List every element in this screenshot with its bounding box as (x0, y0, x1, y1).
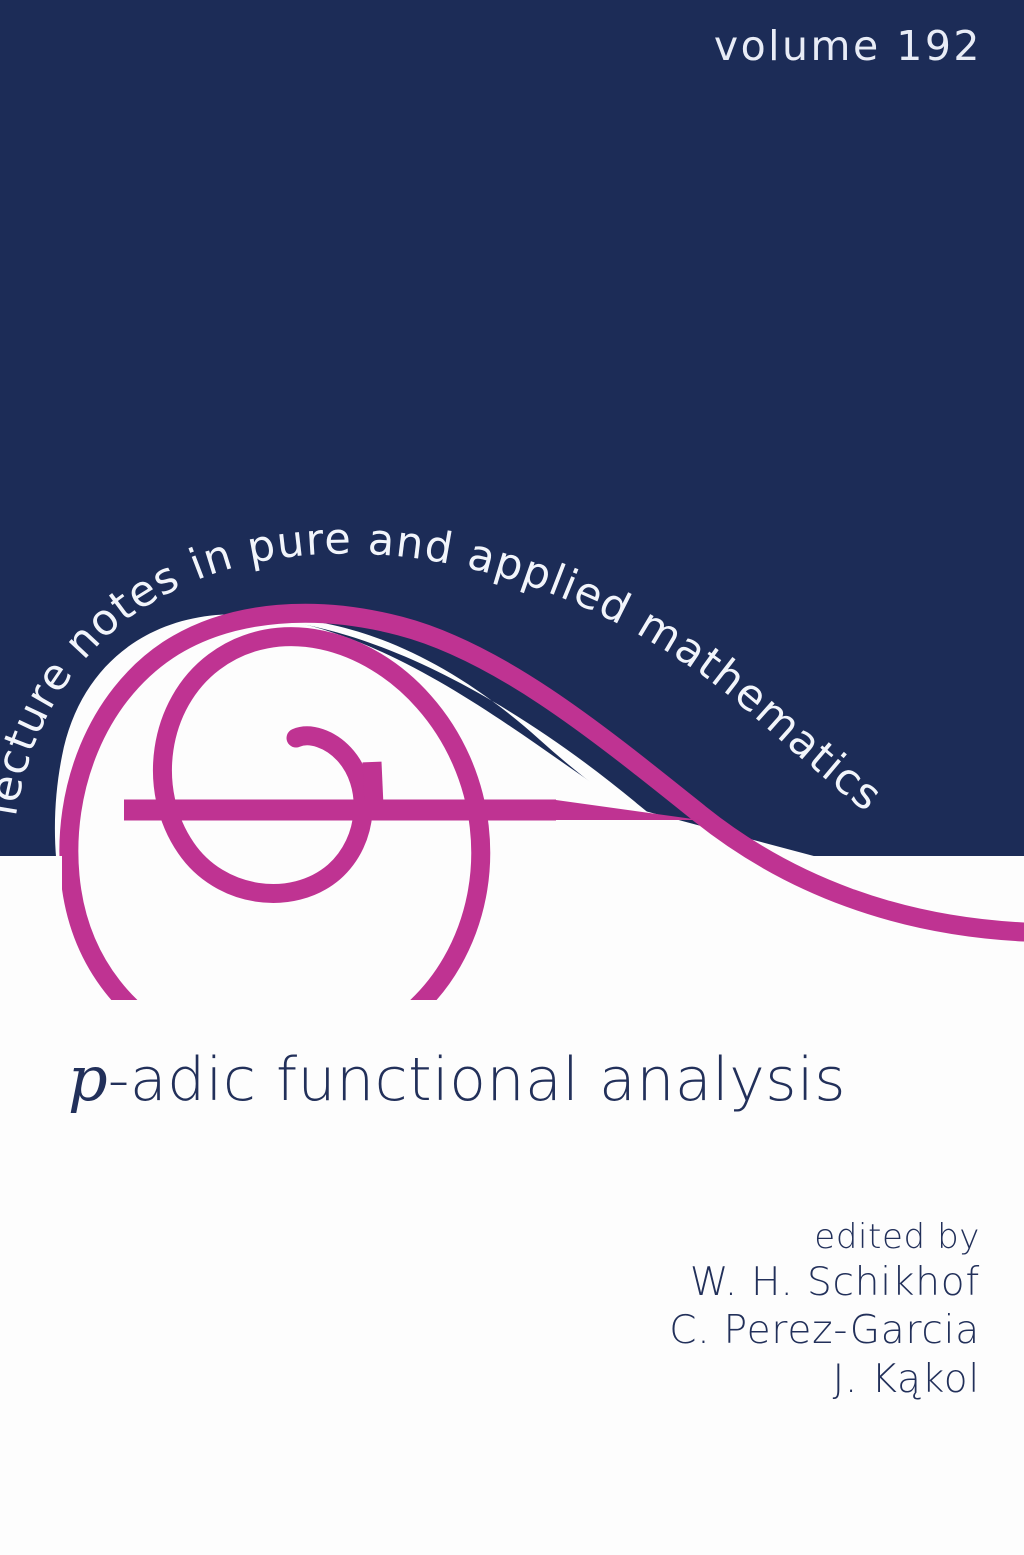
book-cover: volume 192 (0, 0, 1024, 1555)
edited-by-label: edited by (669, 1216, 980, 1259)
logo-spiral-tail (372, 762, 374, 806)
panel-seam-left (0, 856, 62, 1000)
editor-name-1: W. H. Schikhof (669, 1259, 980, 1307)
editor-name-3: J. Kąkol (669, 1356, 980, 1404)
title-remainder: -adic functional analysis (108, 1045, 846, 1115)
series-logo-graphic: lecture notes in pure and applied mathem… (0, 0, 1024, 1000)
editors-block: edited by W. H. Schikhof C. Perez-Garcia… (669, 1216, 980, 1404)
editor-name-2: C. Perez-Garcia (669, 1307, 980, 1355)
book-title: p-adic functional analysis (68, 1042, 846, 1115)
title-italic-p: p (68, 1042, 108, 1115)
